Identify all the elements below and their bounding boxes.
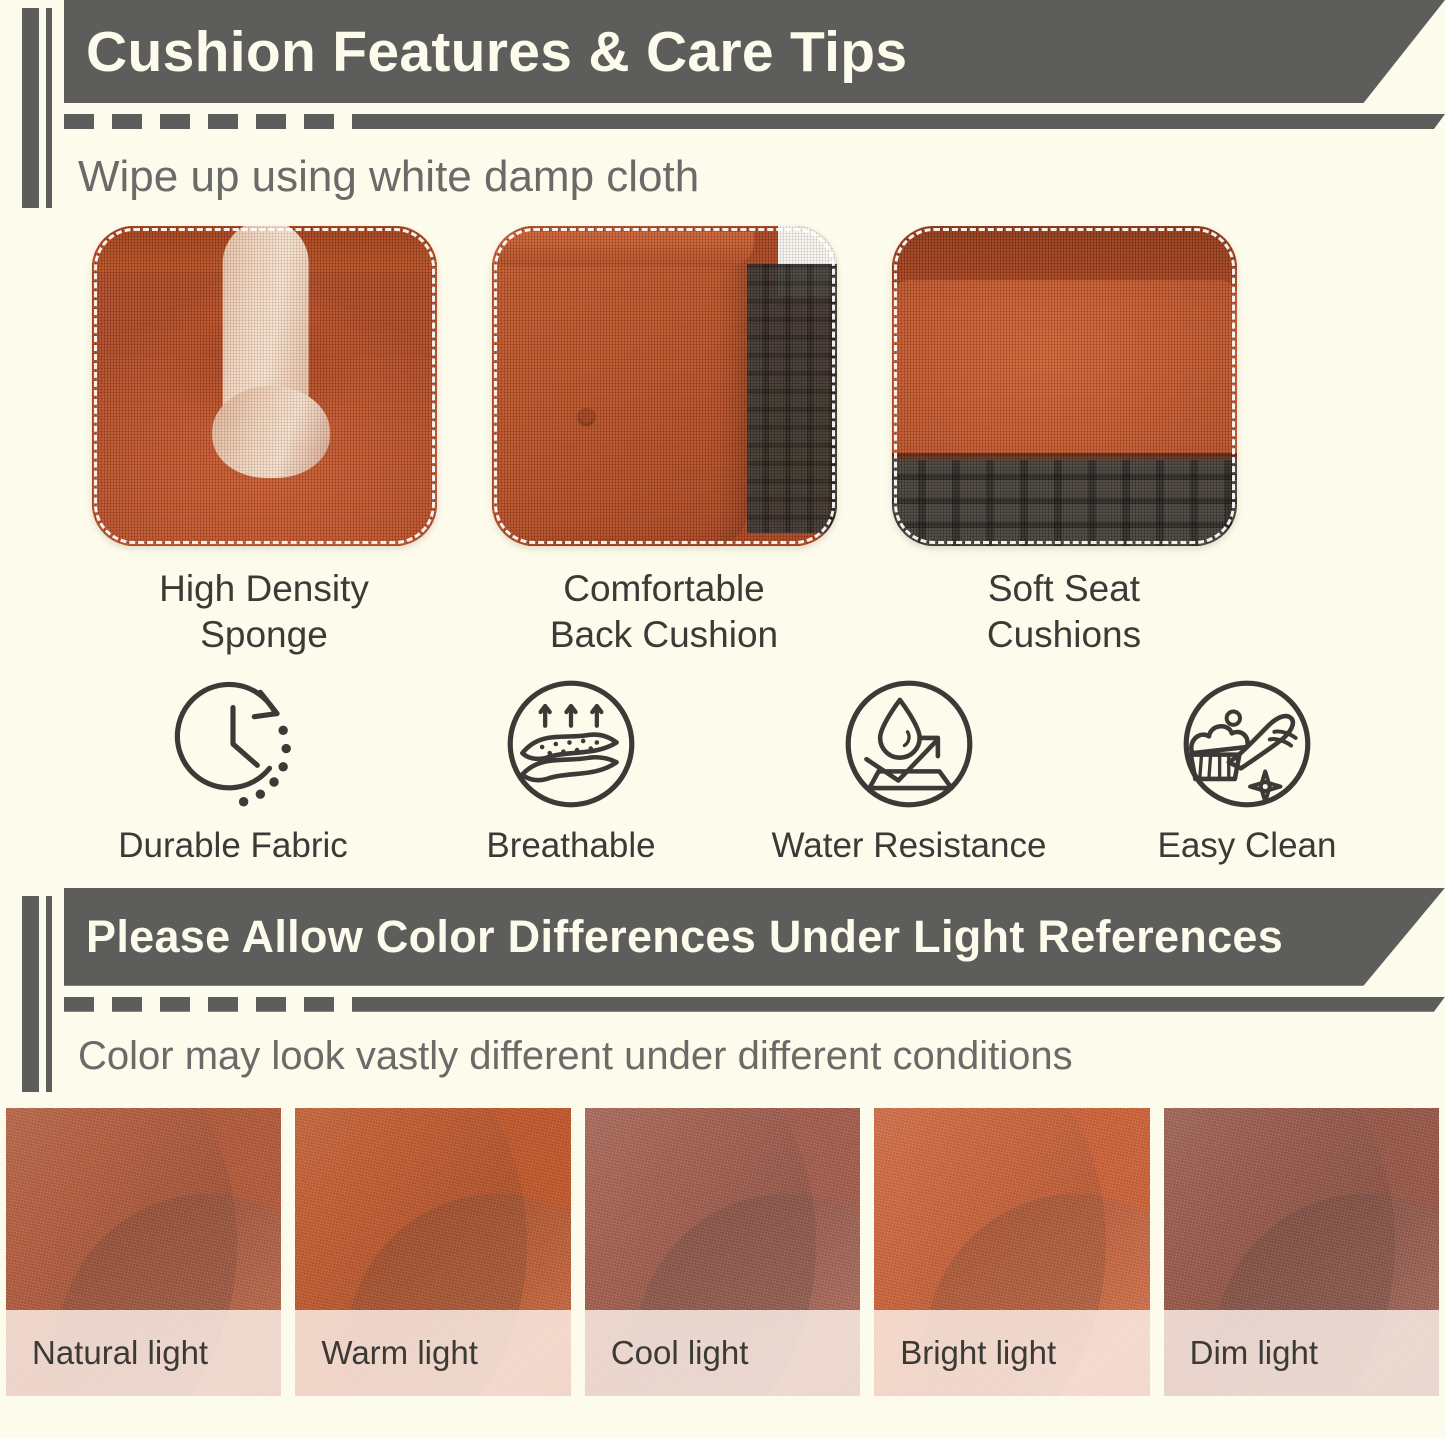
feature-icon-cell: Water Resistance bbox=[740, 668, 1078, 866]
color-swatch: Warm light bbox=[295, 1108, 570, 1396]
section-one-title: Cushion Features & Care Tips bbox=[64, 19, 907, 85]
airflow-fabric-icon bbox=[495, 668, 647, 820]
color-swatch-row: Natural light Warm light Cool light Brig… bbox=[0, 1108, 1445, 1396]
accent-bar-thick bbox=[22, 8, 39, 208]
feature-icons-row: Durable Fabric Breathable Water Resista bbox=[0, 668, 1445, 866]
card-label: High Density Sponge bbox=[159, 566, 369, 658]
card-label-line2: Cushions bbox=[987, 612, 1141, 658]
card-label-line1: Soft Seat bbox=[987, 566, 1141, 612]
color-swatch: Dim light bbox=[1164, 1108, 1439, 1396]
swatch-label: Warm light bbox=[295, 1334, 477, 1372]
card-label: Comfortable Back Cushion bbox=[550, 566, 778, 658]
divider-dash bbox=[112, 114, 142, 129]
color-swatch: Cool light bbox=[585, 1108, 860, 1396]
divider-solid-bar bbox=[352, 997, 1445, 1012]
banner-bar-two: Please Allow Color Differences Under Lig… bbox=[64, 888, 1445, 986]
divider-dash bbox=[304, 997, 334, 1012]
card-label-line1: High Density bbox=[159, 566, 369, 612]
swatch-caption: Bright light bbox=[874, 1310, 1149, 1396]
feature-icon-label: Durable Fabric bbox=[118, 826, 348, 866]
clock-arrow-icon bbox=[157, 668, 309, 820]
swatch-label: Cool light bbox=[585, 1334, 749, 1372]
section-two-title: Please Allow Color Differences Under Lig… bbox=[64, 911, 1283, 963]
divider-dash bbox=[256, 997, 286, 1012]
photo-card: High Density Sponge bbox=[64, 226, 464, 658]
feature-icon-label: Breathable bbox=[486, 826, 655, 866]
swatch-label: Bright light bbox=[874, 1334, 1056, 1372]
divider-solid-bar bbox=[352, 114, 1445, 129]
swatch-label: Dim light bbox=[1164, 1334, 1318, 1372]
scrub-brush-icon bbox=[1171, 668, 1323, 820]
banner-bar-one: Cushion Features & Care Tips bbox=[64, 0, 1445, 103]
feature-icon-cell: Breathable bbox=[402, 668, 740, 866]
divider-dash bbox=[64, 997, 94, 1012]
card-label-line2: Back Cushion bbox=[550, 612, 778, 658]
feature-icon-cell: Easy Clean bbox=[1078, 668, 1416, 866]
feature-photo-cards: High Density Sponge Comfortable Back Cus… bbox=[0, 226, 1445, 658]
section-two-subtitle: Color may look vastly different under di… bbox=[78, 1034, 1445, 1079]
swatch-caption: Natural light bbox=[6, 1310, 281, 1396]
section-one-banner: Cushion Features & Care Tips Wipe up usi… bbox=[0, 0, 1445, 214]
photo-card: Soft Seat Cushions bbox=[864, 226, 1264, 658]
water-droplet-repel-icon bbox=[833, 668, 985, 820]
divider-dash bbox=[160, 114, 190, 129]
section-two-banner: Please Allow Color Differences Under Lig… bbox=[0, 888, 1445, 1079]
left-accent-bars bbox=[22, 896, 58, 1092]
left-accent-bars bbox=[22, 8, 58, 208]
photo-card: Comfortable Back Cushion bbox=[464, 226, 864, 658]
high-density-sponge-photo bbox=[92, 226, 437, 546]
card-label-line2: Sponge bbox=[159, 612, 369, 658]
swatch-caption: Warm light bbox=[295, 1310, 570, 1396]
swatch-caption: Dim light bbox=[1164, 1310, 1439, 1396]
soft-seat-cushions-photo bbox=[892, 226, 1237, 546]
divider-dash bbox=[64, 114, 94, 129]
section-one-subtitle: Wipe up using white damp cloth bbox=[78, 152, 1445, 202]
dashed-divider-two bbox=[64, 997, 1445, 1012]
accent-bar-thin bbox=[46, 896, 52, 1092]
divider-dash bbox=[304, 114, 334, 129]
divider-dash bbox=[160, 997, 190, 1012]
swatch-caption: Cool light bbox=[585, 1310, 860, 1396]
accent-bar-thin bbox=[46, 8, 52, 208]
divider-dash bbox=[256, 114, 286, 129]
feature-icon-label: Water Resistance bbox=[772, 826, 1047, 866]
card-label: Soft Seat Cushions bbox=[987, 566, 1141, 658]
feature-icon-label: Easy Clean bbox=[1158, 826, 1337, 866]
card-label-line1: Comfortable bbox=[550, 566, 778, 612]
divider-dash bbox=[112, 997, 142, 1012]
divider-dash bbox=[208, 114, 238, 129]
divider-dash bbox=[208, 997, 238, 1012]
color-swatch: Bright light bbox=[874, 1108, 1149, 1396]
accent-bar-thick bbox=[22, 896, 39, 1092]
color-swatch: Natural light bbox=[6, 1108, 281, 1396]
swatch-label: Natural light bbox=[6, 1334, 208, 1372]
dashed-divider-one bbox=[64, 114, 1445, 129]
feature-icon-cell: Durable Fabric bbox=[64, 668, 402, 866]
comfortable-back-cushion-photo bbox=[492, 226, 837, 546]
